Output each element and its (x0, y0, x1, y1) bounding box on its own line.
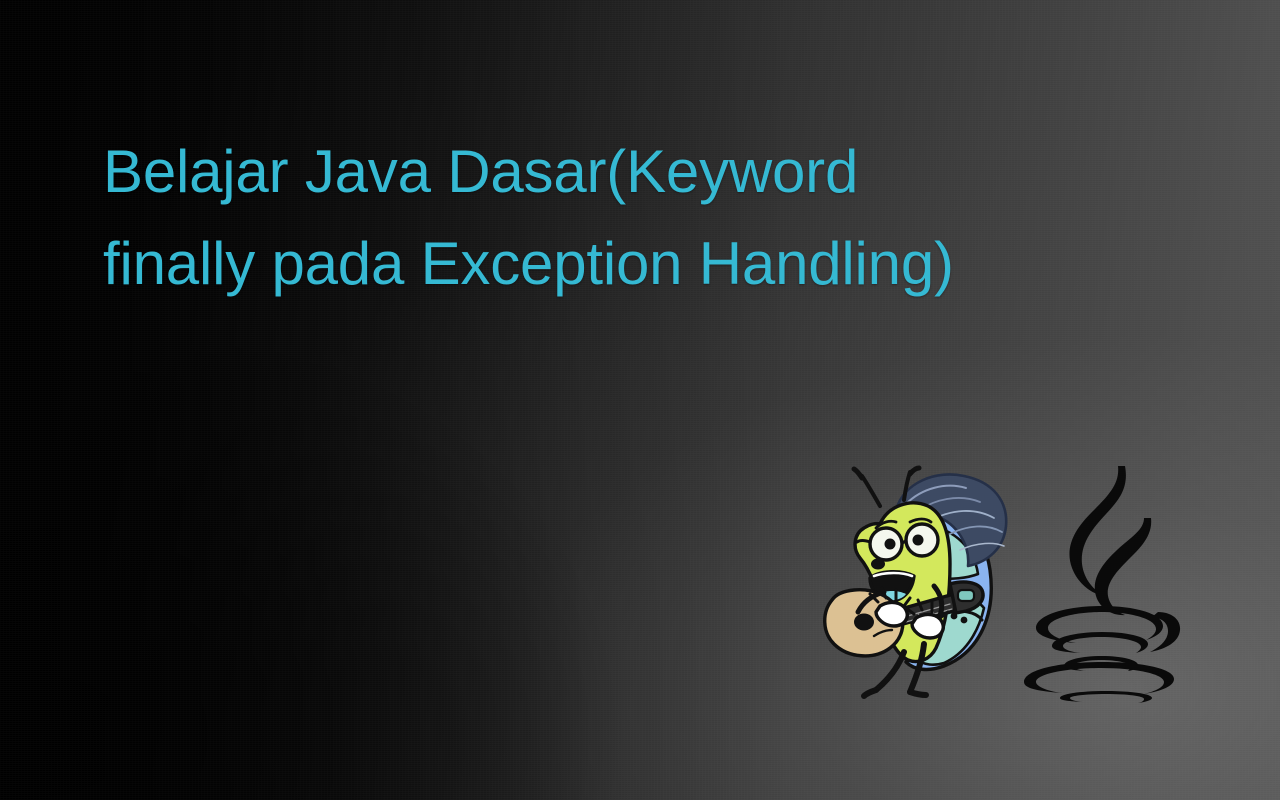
guitar-tuning-peg-2 (961, 617, 968, 624)
mascot-nose (871, 559, 885, 570)
mascot-eye-left-pupil (885, 539, 896, 550)
java-coffee-cup-logo (1018, 460, 1183, 710)
mascot-foot-left (864, 690, 876, 696)
guitar-tuning-peg-1 (951, 613, 958, 620)
slide-title: Belajar Java Dasar(Keyword finally pada … (103, 126, 1113, 310)
java-logo-cup-rim (1036, 606, 1163, 643)
java-logo-steam-front (1095, 518, 1151, 615)
guitar-headstock-inlay (958, 590, 974, 601)
java-duke-bug-guitarist-illustration (818, 466, 1023, 701)
java-logo-saucer (1024, 662, 1174, 694)
guitar-sound-hole (854, 614, 874, 631)
mascot-foot-right (910, 692, 926, 695)
mascot-antenna-left (862, 476, 880, 506)
mascot-leg-left (876, 652, 904, 690)
presentation-slide: Belajar Java Dasar(Keyword finally pada … (0, 0, 1280, 800)
title-line-2: finally pada Exception Handling) (103, 218, 1113, 310)
mascot-antenna-left-tip (854, 469, 862, 478)
mascot-eye-right-pupil (913, 535, 924, 546)
title-line-1: Belajar Java Dasar(Keyword (103, 126, 1113, 218)
mascot-antenna-right-tip (910, 468, 919, 474)
java-logo-cup-ring-2 (1052, 632, 1148, 653)
java-logo-saucer-shadow (1060, 691, 1152, 703)
